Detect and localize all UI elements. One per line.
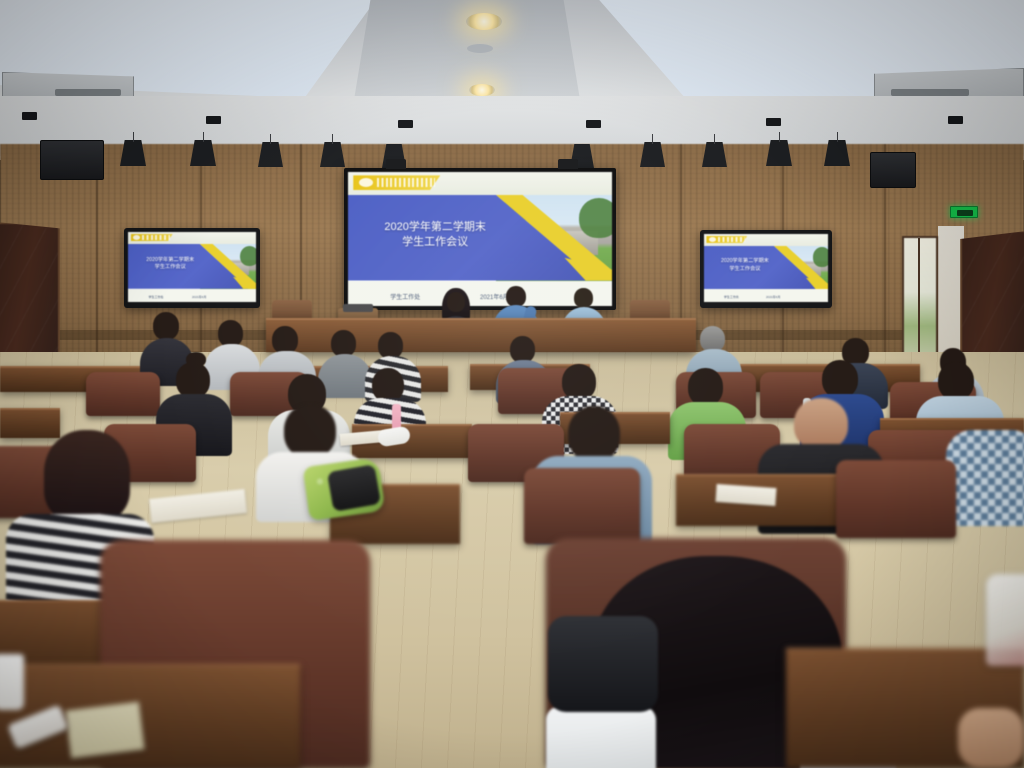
beige-notebook (65, 702, 144, 759)
smoke-detector-icon (467, 44, 493, 53)
draped-jacket (548, 616, 658, 712)
black-bag (327, 464, 381, 512)
wall-speaker (40, 140, 104, 180)
presentation-slide-right-monitor: 2020学年第二学期末 学生工作会议 学生工作处 2021年6月 (704, 234, 828, 302)
white-cup (0, 654, 24, 710)
slide-title-line1: 2020学年第二学期末 (713, 258, 777, 265)
wall-downlight-icon (766, 118, 781, 126)
slide-title: 2020学年第二学期末 学生工作会议 (137, 257, 204, 271)
slide-title: 2020学年第二学期末 学生工作会议 (713, 258, 777, 272)
wall-downlight-icon (586, 120, 601, 128)
presentation-slide-main: 2020学年第二学期末 学生工作会议 学生工作处 2021年6月 (348, 172, 612, 306)
university-logo-icon (709, 237, 716, 242)
plastic-bag (986, 574, 1024, 666)
slide-title-line2: 学生工作会议 (366, 235, 503, 250)
attendee-forearm (958, 708, 1024, 768)
chair-row4-c (836, 460, 956, 538)
university-name-text (718, 237, 745, 241)
wall-downlight-icon (948, 116, 963, 124)
screen-mount (386, 159, 406, 169)
slide-footer-org: 学生工作处 (148, 295, 163, 299)
university-name-text (377, 178, 435, 187)
exit-sign-icon (950, 206, 978, 218)
university-name-text (142, 235, 170, 240)
presentation-slide-left-monitor: 2020学年第二学期末 学生工作会议 学生工作处 2021年6月 (128, 232, 256, 302)
ceiling-downlight-1 (466, 13, 502, 30)
conference-room-photo: 2020学年第二学期末 学生工作会议 学生工作处 2021年6月 2020学年第… (0, 0, 1024, 768)
wall-downlight-icon (206, 116, 221, 124)
slide-footer-date: 2021年6月 (192, 295, 206, 299)
slide-title-line1: 2020学年第二学期末 (366, 220, 503, 235)
wall-downlight-icon (22, 112, 37, 120)
ceiling (0, 0, 1024, 160)
slide-footer-org: 学生工作处 (390, 292, 420, 301)
wall-downlight-icon (398, 120, 413, 128)
slide-title-line2: 学生工作会议 (713, 266, 777, 273)
screen-mount (558, 159, 578, 169)
wall-speaker (870, 152, 916, 188)
slide-title-line2: 学生工作会议 (137, 264, 204, 271)
slide-footer-date: 2021年6月 (766, 295, 780, 299)
chair-row4-b (524, 468, 640, 544)
ceiling-downlight-2 (469, 84, 495, 96)
slide-title: 2020学年第二学期末 学生工作会议 (366, 220, 503, 250)
desk-row2-left (0, 408, 60, 438)
slide-footer-date: 2021年6月 (480, 292, 509, 301)
chair-row2-a (86, 372, 160, 416)
slide-footer-org: 学生工作处 (724, 295, 739, 299)
